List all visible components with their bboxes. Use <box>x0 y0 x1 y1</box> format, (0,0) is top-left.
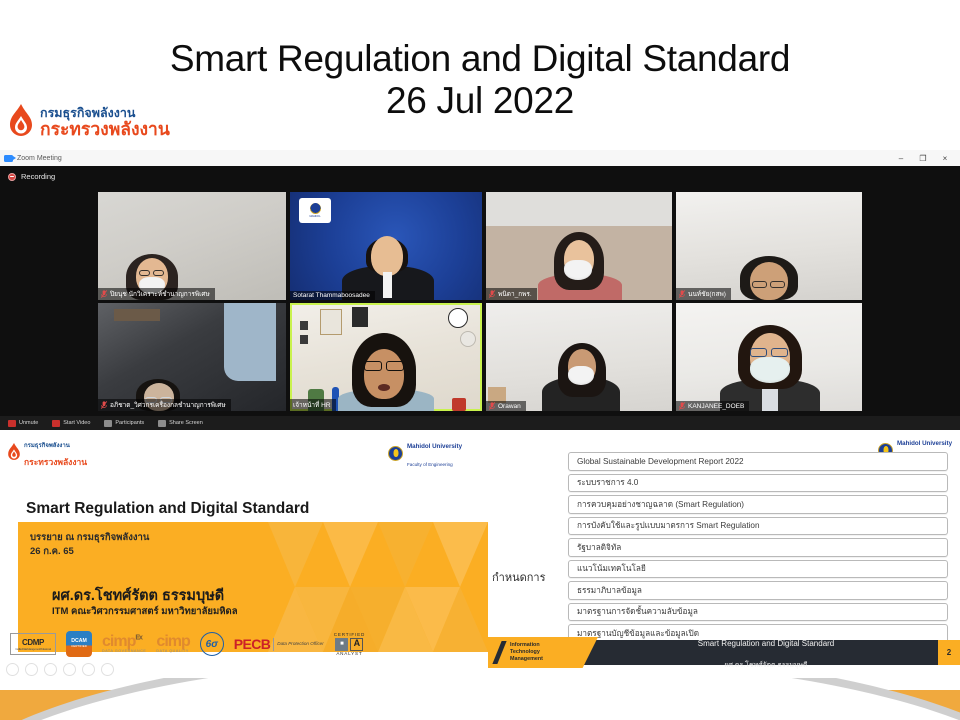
mic-muted-icon <box>101 401 107 409</box>
pecb-label: PECB <box>234 636 271 652</box>
close-button[interactable]: × <box>934 154 956 163</box>
cimp-label: cimp <box>156 633 189 650</box>
slide-footer-center: Smart Regulation and Digital Standard ผศ… <box>594 632 938 674</box>
mic-muted-icon <box>101 290 107 298</box>
university-badge-icon: MAHIDOL <box>299 198 331 223</box>
itm-footer-tag-text: Information Technology Management <box>510 642 543 662</box>
slide-speaker-affiliation: ITM คณะวิศวกรรมศาสตร์ มหาวิทยาลัยมหิดล <box>52 604 238 619</box>
agenda-item[interactable]: การควบคุมอย่างชาญฉลาด (Smart Regulation) <box>568 495 948 514</box>
toolbar-start-video[interactable]: Start Video <box>52 420 90 427</box>
cimp-ex-wordmark: cimpEx <box>102 635 142 649</box>
slide-ministry-line-1: กรมธุรกิจพลังงาน <box>24 443 70 449</box>
cimp-logo: cimp DATA QUALITY <box>156 635 189 653</box>
certified-analyst-bottom: ANALYST <box>336 651 362 656</box>
maximize-button[interactable]: ❐ <box>912 154 934 163</box>
participant-name: KANJANEE_DOEB <box>688 403 744 410</box>
participant-name-label: KANJANEE_DOEB <box>676 401 749 411</box>
slide-page-number: 2 <box>938 640 960 665</box>
participant-tile[interactable]: ปิยนุช นักวิเคราะห์ชำนาญการพิเศษ <box>98 192 286 300</box>
certified-analyst-marks: ■ A <box>335 638 363 651</box>
participant-name: เจ้าหน้าที่ HR <box>293 400 331 410</box>
participant-tile[interactable]: MAHIDOL Sotarat Thammaboosadee <box>290 192 482 300</box>
agenda-item[interactable]: ระบบราชการ 4.0 <box>568 474 948 493</box>
participant-name-label: ปิยนุช นักวิเคราะห์ชำนาญการพิเศษ <box>98 288 215 300</box>
slide-subtitle-line-1: บรรยาย ณ กรมธุรกิจพลังงาน <box>30 530 149 545</box>
mic-muted-icon <box>489 402 495 410</box>
presentation-slide: Smart Regulation and Digital Standard 26… <box>0 0 960 720</box>
itm-tag-line-1: Information <box>510 642 540 648</box>
participant-tile[interactable]: พนิดา_กพร. <box>486 192 672 300</box>
mahidol-name: Mahidol University <box>407 443 462 450</box>
cimp-ex-sup: Ex <box>135 634 142 641</box>
mic-muted-icon <box>679 402 685 410</box>
recording-label: Recording <box>21 172 55 181</box>
control-icon-6[interactable] <box>101 663 114 676</box>
certified-analyst-logo: CERTIFIED ■ A ANALYST <box>334 632 365 655</box>
share-screen-icon <box>158 420 166 427</box>
slide-footer-speaker: ผศ.ดร.โชทศ์รัตต ธรรมบุษดี <box>724 662 807 669</box>
agenda-item[interactable]: แนวโน้มเทคโนโลยี <box>568 560 948 579</box>
itm-footer-tag: Information Technology Management <box>488 637 598 668</box>
ministry-logo-line-2: กระทรวงพลังงาน <box>40 119 170 139</box>
slide-footer-title: Smart Regulation and Digital Standard <box>698 639 835 648</box>
page-title-line-1: Smart Regulation and Digital Standard <box>170 38 790 79</box>
ministry-logo-line-1: กรมธุรกิจพลังงาน <box>40 106 135 120</box>
zoom-meeting-window[interactable]: Zoom Meeting – ❐ × Recording <box>0 150 960 430</box>
certified-analyst-letter: A <box>350 638 363 651</box>
participant-name-label: อภิชาต_วิศวกรเครื่องกลชำนาญการพิเศษ <box>98 399 231 411</box>
window-title: Zoom Meeting <box>17 155 62 162</box>
recording-indicator[interactable]: Recording <box>8 172 55 181</box>
shared-screen-slide: กรมธุรกิจพลังงาน กระทรวงพลังงาน Mahidol … <box>0 430 960 678</box>
itm-tag-line-2: Technology <box>510 649 540 655</box>
slide-ministry-line-2: กระทรวงพลังงาน <box>24 457 87 467</box>
agenda-item[interactable]: การบังคับใช้และรูปแบบมาตรการ Smart Regul… <box>568 517 948 536</box>
participant-tile-active-speaker[interactable]: เจ้าหน้าที่ HR <box>290 303 482 411</box>
mute-icon <box>8 420 16 427</box>
mic-muted-icon <box>679 290 685 298</box>
record-icon <box>8 173 16 181</box>
control-icon-1[interactable] <box>6 663 19 676</box>
agenda-heading: กำหนดการ <box>492 568 546 586</box>
pecb-logo: PECB Data Protection Officer <box>234 636 324 652</box>
toolbar-unmute[interactable]: Unmute <box>8 420 38 427</box>
control-icon-5[interactable] <box>82 663 95 676</box>
participant-name-label: Sotarat Thammaboosadee <box>290 291 375 300</box>
participant-name: ปิยนุช นักวิเคราะห์ชำนาญการพิเศษ <box>110 289 210 299</box>
cimp-wordmark: cimp <box>156 635 189 649</box>
slide-ministry-logo: กรมธุรกิจพลังงาน กระทรวงพลังงาน <box>7 434 87 470</box>
participant-tile[interactable]: อภิชาต_วิศวกรเครื่องกลชำนาญการพิเศษ <box>98 303 286 411</box>
participant-name: นนท์ชัย(กสพ) <box>688 289 726 299</box>
cimp-ex-label: cimp <box>102 633 135 650</box>
stop-video-icon <box>52 420 60 427</box>
participant-grid: ปิยนุช นักวิเคราะห์ชำนาญการพิเศษ MAHIDOL… <box>98 192 868 414</box>
participant-name: Orawan <box>498 403 521 410</box>
minimize-button[interactable]: – <box>890 154 912 163</box>
zoom-video-area: Recording ปิยนุช นักวิเคราะห์ชำนาญการพิเ… <box>0 166 960 430</box>
zoom-titlebar[interactable]: Zoom Meeting – ❐ × <box>0 150 960 166</box>
participant-name: Sotarat Thammaboosadee <box>293 292 370 299</box>
slide-ministry-logo-text: กรมธุรกิจพลังงาน กระทรวงพลังงาน <box>24 434 87 470</box>
toolbar-share-screen-label: Share Screen <box>169 420 203 426</box>
participant-tile[interactable]: นนท์ชัย(กสพ) <box>676 192 862 300</box>
cimp-ex-logo: cimpEx DATA GOVERNANCE <box>102 635 146 653</box>
participant-name: พนิดา_กพร. <box>498 289 532 299</box>
toolbar-start-video-label: Start Video <box>63 420 90 426</box>
control-icon-2[interactable] <box>25 663 38 676</box>
agenda-item[interactable]: มาตรฐานการจัดชั้นความลับข้อมูล <box>568 603 948 622</box>
agenda-item[interactable]: Global Sustainable Development Report 20… <box>568 452 948 471</box>
flame-icon <box>7 443 21 462</box>
pecb-sub: Data Protection Officer <box>277 641 323 647</box>
cdmp-logo: CDMP Certified Data Management Professio… <box>10 633 56 655</box>
slash-icon <box>492 641 506 664</box>
toolbar-unmute-label: Unmute <box>19 420 38 426</box>
itm-tag-line-3: Management <box>510 656 543 662</box>
ministry-of-energy-logo: กรมธุรกิจพลังงาน กระทรวงพลังงาน <box>8 104 170 140</box>
slide-title: Smart Regulation and Digital Standard <box>26 500 309 518</box>
six-sigma-logo: 6σ <box>200 632 224 656</box>
participant-name: อภิชาต_วิศวกรเครื่องกลชำนาญการพิเศษ <box>110 400 226 410</box>
mahidol-seal-icon <box>388 446 403 461</box>
participant-name-label: เจ้าหน้าที่ HR <box>290 399 336 411</box>
mahidol-faculty: Faculty of Engineering <box>407 462 453 467</box>
participant-name-label: นนท์ชัย(กสพ) <box>676 288 731 300</box>
slide-footer: Information Technology Management Smart … <box>494 640 960 665</box>
agenda-item[interactable]: รัฐบาลดิจิทัล <box>568 538 948 557</box>
certification-logos: CDMP Certified Data Management Professio… <box>4 630 490 658</box>
participants-icon <box>104 420 112 427</box>
pecb-divider <box>273 638 274 651</box>
mahidol-university-logo: Mahidol University Faculty of Engineerin… <box>388 435 462 471</box>
toolbar-participants[interactable]: Participants <box>104 420 144 427</box>
slide-subtitle-line-2: 26 ก.ค. 65 <box>30 544 74 559</box>
cdmp-sub: Certified Data Management Professional <box>15 647 50 651</box>
ministry-logo-text: กรมธุรกิจพลังงาน กระทรวงพลังงาน <box>40 105 170 140</box>
mic-muted-icon <box>489 290 495 298</box>
agenda-item[interactable]: ธรรมาภิบาลข้อมูล <box>568 581 948 600</box>
zoom-meeting-toolbar[interactable]: Unmute Start Video Participants Share Sc… <box>0 416 960 430</box>
participant-name-label: พนิดา_กพร. <box>486 288 537 300</box>
participant-tile[interactable]: Orawan <box>486 303 672 411</box>
dcam-logo: DCAM CERTIFIED <box>66 631 92 657</box>
flame-icon <box>8 104 34 140</box>
zoom-camera-icon <box>4 155 13 162</box>
dcam-sub: CERTIFIED <box>71 645 87 648</box>
six-sigma-label: 6σ <box>206 639 218 650</box>
participant-name-label: Orawan <box>486 401 526 411</box>
control-icon-3[interactable] <box>44 663 57 676</box>
toolbar-share-screen[interactable]: Share Screen <box>158 420 203 427</box>
zoom-share-controls[interactable] <box>6 663 114 676</box>
mahidol-logo-text: Mahidol University Faculty of Engineerin… <box>407 435 462 471</box>
cube-icon: ■ <box>335 638 348 651</box>
participant-tile[interactable]: KANJANEE_DOEB <box>676 303 862 411</box>
toolbar-participants-label: Participants <box>115 420 144 426</box>
mahidol-name-secondary: Mahidol University <box>897 440 952 447</box>
cdmp-label: CDMP <box>22 638 44 647</box>
control-icon-4[interactable] <box>63 663 76 676</box>
